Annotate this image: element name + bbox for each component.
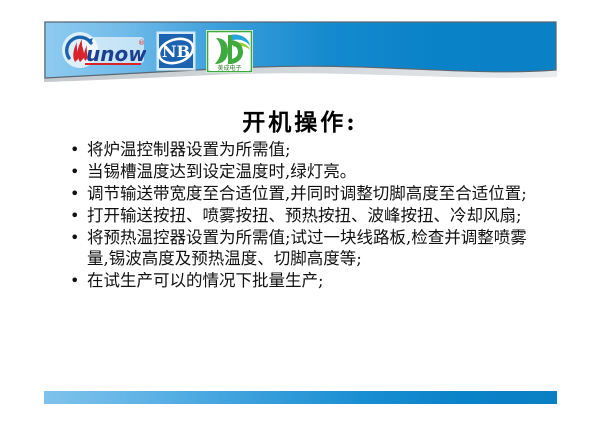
list-item: • 调节输送带宽度至合适位置,并同时调整切脚高度至合适位置; — [68, 183, 539, 204]
bullet-icon: • — [70, 139, 79, 160]
bullet-icon: • — [70, 227, 79, 248]
bullet-icon: • — [70, 205, 79, 226]
list-item-text: 将炉温控制器设置为所需值; — [87, 140, 291, 159]
nb-badge-logo-text: NB — [162, 42, 190, 61]
list-item: • 将炉温控制器设置为所需值; — [68, 139, 538, 160]
list-item-text: 调节输送带宽度至合适位置,并同时调整切脚高度至合适位置; — [87, 184, 527, 203]
list-item-text: 打开输送按扭、喷雾按扭、预热按扭、波峰按扭、冷却风扇; — [87, 206, 522, 225]
registered-icon: ® — [138, 39, 145, 47]
unow-logo-text: unow — [86, 42, 146, 66]
bullet-icon: • — [70, 183, 79, 204]
logo-row: unow ® NB — [60, 28, 253, 74]
list-item: • 在试生产可以的情况下批量生产; — [68, 270, 538, 291]
bullet-icon: • — [70, 161, 79, 182]
bullet-icon: • — [70, 270, 79, 291]
nb-badge-logo: NB — [156, 31, 196, 71]
unow-logo: unow ® — [60, 31, 146, 71]
green-company-logo: 美成电子 — [206, 30, 253, 73]
footer-bar — [44, 391, 557, 404]
bullet-list: • 将炉温控制器设置为所需值; • 当锡槽温度达到设定温度时,绿灯亮。 • 调节… — [68, 139, 538, 292]
list-item: • 打开输送按扭、喷雾按扭、预热按扭、波峰按扭、冷却风扇; — [68, 205, 539, 226]
green-company-logo-subtext: 美成电子 — [217, 64, 241, 72]
list-item-text: 将预热温控器设置为所需值;试过一块线路板,检查并调整喷雾量,锡波高度及预热温度、… — [87, 228, 527, 268]
list-item: • 当锡槽温度达到设定温度时,绿灯亮。 — [68, 161, 538, 182]
list-item-text: 在试生产可以的情况下批量生产; — [87, 271, 324, 290]
slide-canvas: unow ® NB — [0, 0, 600, 424]
list-item-text: 当锡槽温度达到设定温度时,绿灯亮。 — [87, 162, 356, 181]
list-item: • 将预热温控器设置为所需值;试过一块线路板,检查并调整喷雾量,锡波高度及预热温… — [68, 227, 539, 269]
page-title: 开机操作: — [0, 103, 600, 137]
